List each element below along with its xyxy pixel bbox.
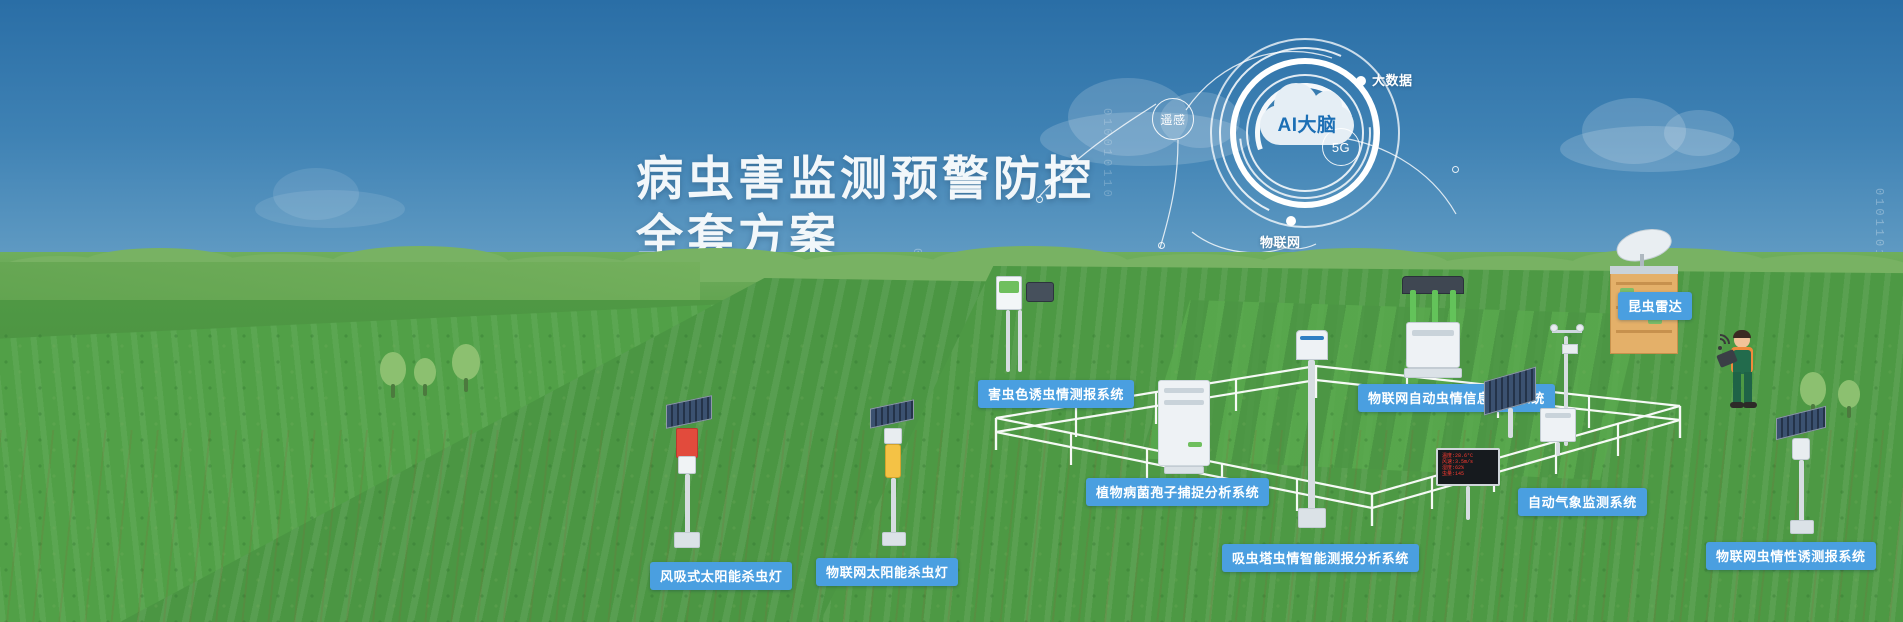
connector-endpoint xyxy=(1036,196,1043,203)
node-big-data-dot xyxy=(1356,76,1366,86)
label-wind-solar-lamp[interactable]: 风吸式太阳能杀虫灯 xyxy=(650,562,792,590)
device-wind-solar-lamp[interactable] xyxy=(652,400,722,560)
label-spore-capture[interactable]: 植物病菌孢子捕捉分析系统 xyxy=(1086,478,1269,506)
node-5g-label: 5G xyxy=(1332,140,1350,155)
label-weather-station[interactable]: 自动气象监测系统 xyxy=(1518,488,1647,516)
device-pest-color-trap[interactable] xyxy=(990,276,1066,380)
worker-figure xyxy=(1710,330,1766,420)
node-remote-sensing[interactable]: 遥感 xyxy=(1152,98,1194,140)
cloud-decor xyxy=(1560,126,1740,172)
device-iot-solar-lamp[interactable] xyxy=(862,404,926,554)
node-iot-dot xyxy=(1286,216,1296,226)
led-line-4: 虫量:145 xyxy=(1442,471,1494,477)
device-suction-tower[interactable] xyxy=(1288,330,1338,545)
cloud-decor xyxy=(255,190,405,228)
node-remote-sensing-label: 遥感 xyxy=(1160,111,1185,128)
device-iot-auto-pest-collect[interactable] xyxy=(1398,276,1478,386)
label-iot-solar-lamp[interactable]: 物联网太阳能杀虫灯 xyxy=(816,558,958,586)
label-suction-tower[interactable]: 吸虫塔虫情智能测报分析系统 xyxy=(1222,544,1419,572)
device-led-info-board[interactable]: 温度:28.6°C 风速:3.5m/s 湿度:62% 虫量:145 xyxy=(1436,448,1516,522)
label-pest-color-trap[interactable]: 害虫色诱虫情测报系统 xyxy=(978,380,1134,408)
device-control-cabinet[interactable] xyxy=(1540,408,1586,458)
device-spore-capture[interactable] xyxy=(1158,380,1218,490)
ai-network-diagram: AI大脑 遥感 5G 大数据 物联网 xyxy=(1100,20,1520,250)
ai-brain-label: AI大脑 xyxy=(1261,110,1353,137)
connector-endpoint xyxy=(1452,166,1459,173)
led-screen: 温度:28.6°C 风速:3.5m/s 湿度:62% 虫量:145 xyxy=(1436,448,1500,486)
label-iot-pheromone[interactable]: 物联网虫情性诱测报系统 xyxy=(1706,542,1876,570)
device-iot-pheromone[interactable] xyxy=(1770,412,1840,542)
label-insect-radar[interactable]: 昆虫雷达 xyxy=(1618,292,1692,320)
node-big-data-label: 大数据 xyxy=(1372,70,1413,89)
device-solar-panel[interactable] xyxy=(1484,374,1540,444)
poster-canvas: 0100010011010100010 010010110 0101101001… xyxy=(0,0,1903,622)
